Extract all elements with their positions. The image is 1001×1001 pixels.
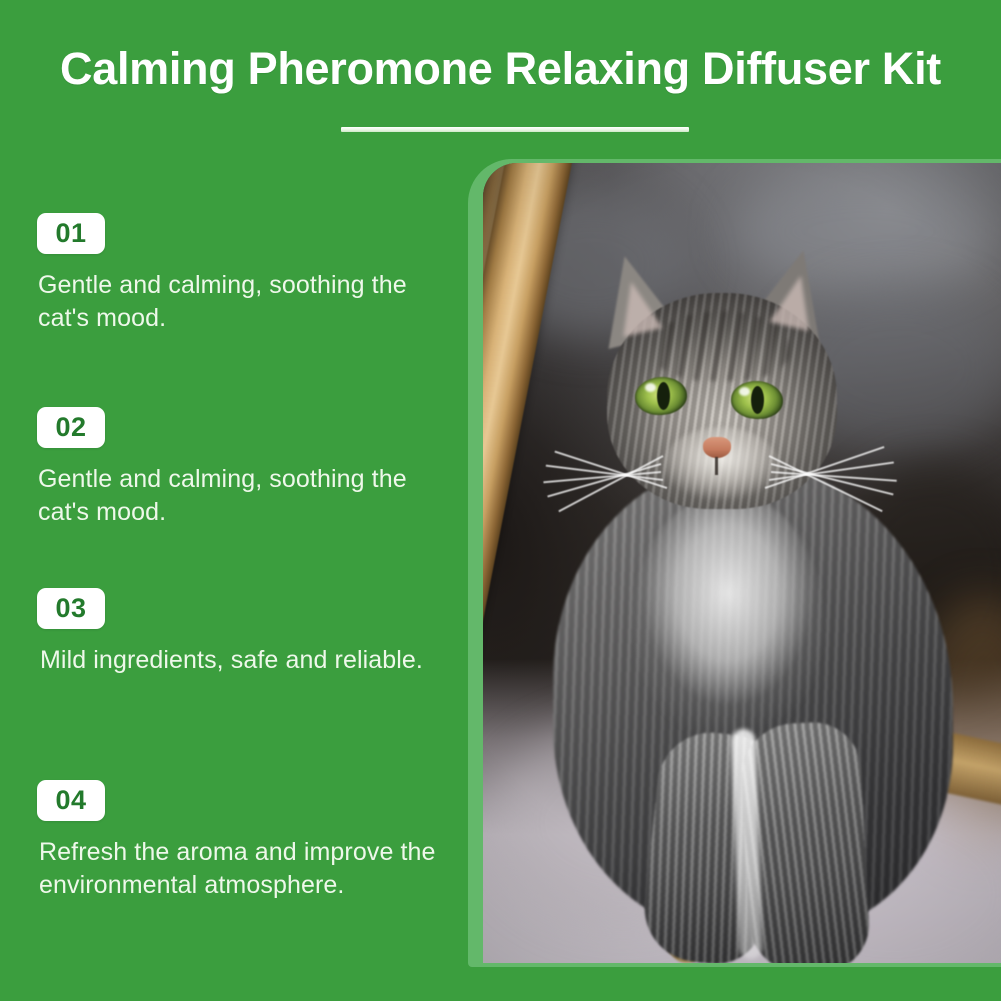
feature-number-badge: 01	[37, 213, 105, 254]
cat-chest-ruff	[633, 493, 823, 743]
cat-head	[591, 259, 853, 509]
feature-item-03: 03 Mild ingredients, safe and reliable.	[37, 588, 457, 677]
cat-eye-gleam-right	[739, 387, 750, 396]
cat-pupil-right	[751, 386, 764, 414]
cat-eye-gleam-left	[645, 383, 656, 392]
title-divider	[341, 127, 689, 132]
cat-nose	[703, 437, 731, 458]
feature-number-badge: 04	[37, 780, 105, 821]
feature-item-01: 01 Gentle and calming, soothing the cat'…	[37, 213, 457, 335]
feature-number-badge: 03	[37, 588, 105, 629]
feature-number-badge: 02	[37, 407, 105, 448]
photo-frame	[468, 159, 1001, 967]
feature-description: Refresh the aroma and improve the enviro…	[39, 836, 457, 902]
product-feature-banner: Calming Pheromone Relaxing Diffuser Kit …	[0, 0, 1001, 1001]
feature-item-04: 04 Refresh the aroma and improve the env…	[37, 780, 457, 902]
feature-description: Gentle and calming, soothing the cat's m…	[38, 463, 438, 529]
feature-item-02: 02 Gentle and calming, soothing the cat'…	[37, 407, 457, 529]
feature-list: 01 Gentle and calming, soothing the cat'…	[0, 160, 470, 1001]
feature-description: Mild ingredients, safe and reliable.	[40, 644, 457, 677]
cat-photo	[483, 163, 1001, 963]
cat-nose-line	[715, 457, 718, 475]
banner-header: Calming Pheromone Relaxing Diffuser Kit	[0, 0, 1001, 160]
page-title: Calming Pheromone Relaxing Diffuser Kit	[0, 41, 1001, 97]
cat-forehead-stripes	[653, 311, 789, 381]
cat-pupil-left	[657, 382, 670, 410]
feature-description: Gentle and calming, soothing the cat's m…	[38, 269, 438, 335]
